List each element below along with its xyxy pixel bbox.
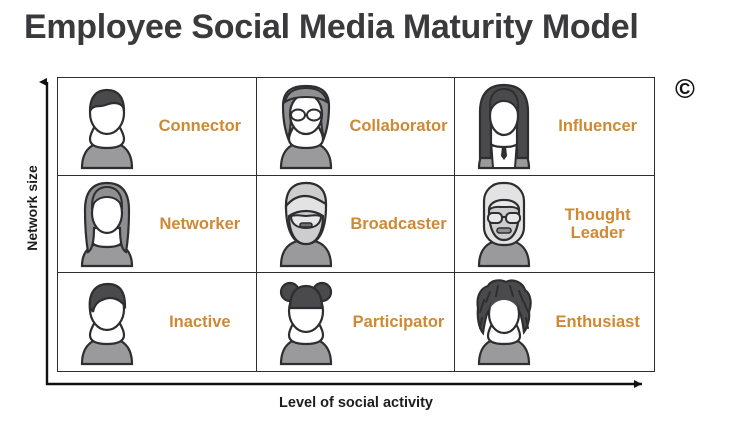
matrix-cell-broadcaster[interactable]: Broadcaster [257, 176, 456, 274]
cell-label: Thought Leader [541, 206, 654, 243]
long-hair-person-avatar [70, 180, 144, 268]
matrix-cell-inactive[interactable]: Inactive [58, 273, 257, 371]
y-axis-label: Network size [24, 138, 40, 278]
long-dark-hair-suit-person-avatar [467, 82, 541, 170]
x-axis-label: Level of social activity [57, 395, 655, 411]
maturity-model-diagram: Employee Social Media Maturity Model © N… [0, 0, 730, 425]
buns-hair-person-avatar [269, 278, 343, 366]
cell-label: Broadcaster [343, 215, 455, 233]
cell-label: Inactive [144, 313, 256, 331]
cell-label: Connector [144, 117, 256, 135]
curly-hair-person-avatar [467, 278, 541, 366]
cell-label: Participator [343, 313, 455, 331]
matrix-cell-influencer[interactable]: Influencer [455, 78, 654, 176]
swept-hair-person-avatar [70, 278, 144, 366]
cell-label: Collaborator [343, 117, 455, 135]
matrix-cell-collaborator[interactable]: Collaborator [257, 78, 456, 176]
bearded-person-avatar [269, 180, 343, 268]
page-title: Employee Social Media Maturity Model [24, 8, 714, 47]
copyright-icon: © [671, 76, 699, 104]
cell-label: Networker [144, 215, 256, 233]
matrix-cell-networker[interactable]: Networker [58, 176, 257, 274]
matrix-cell-thought-leader[interactable]: Thought Leader [455, 176, 654, 274]
glasses-mustache-person-avatar [467, 180, 541, 268]
cell-label: Enthusiast [541, 313, 654, 331]
short-hair-person-avatar [70, 82, 144, 170]
matrix-cell-enthusiast[interactable]: Enthusiast [455, 273, 654, 371]
matrix-grid: Connector Collaborator [57, 77, 655, 372]
matrix-cell-participator[interactable]: Participator [257, 273, 456, 371]
matrix-cell-connector[interactable]: Connector [58, 78, 257, 176]
cell-label: Influencer [541, 117, 654, 135]
bob-hair-glasses-person-avatar [269, 82, 343, 170]
